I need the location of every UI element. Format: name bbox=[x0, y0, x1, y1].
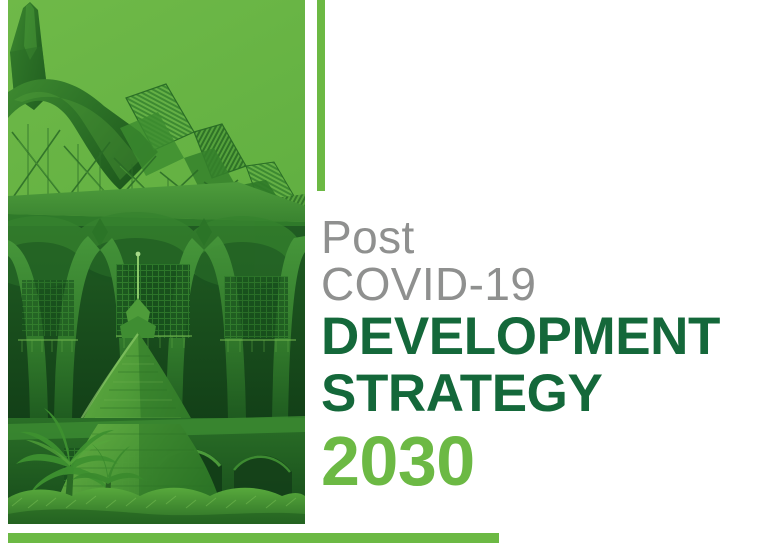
title-line-covid: COVID-19 bbox=[321, 261, 741, 308]
bottom-accent-rule bbox=[8, 533, 499, 543]
building-illustration bbox=[8, 0, 305, 524]
title-line-development: DEVELOPMENT bbox=[321, 308, 741, 365]
vertical-accent-rule bbox=[317, 0, 325, 191]
title-line-post: Post bbox=[321, 214, 741, 261]
title-line-year: 2030 bbox=[321, 424, 741, 498]
title-line-strategy: STRATEGY bbox=[321, 365, 741, 422]
cover-page: Post COVID-19 DEVELOPMENT STRATEGY 2030 bbox=[0, 0, 761, 549]
title-block: Post COVID-19 DEVELOPMENT STRATEGY 2030 bbox=[321, 214, 741, 498]
cover-photo bbox=[8, 0, 305, 524]
